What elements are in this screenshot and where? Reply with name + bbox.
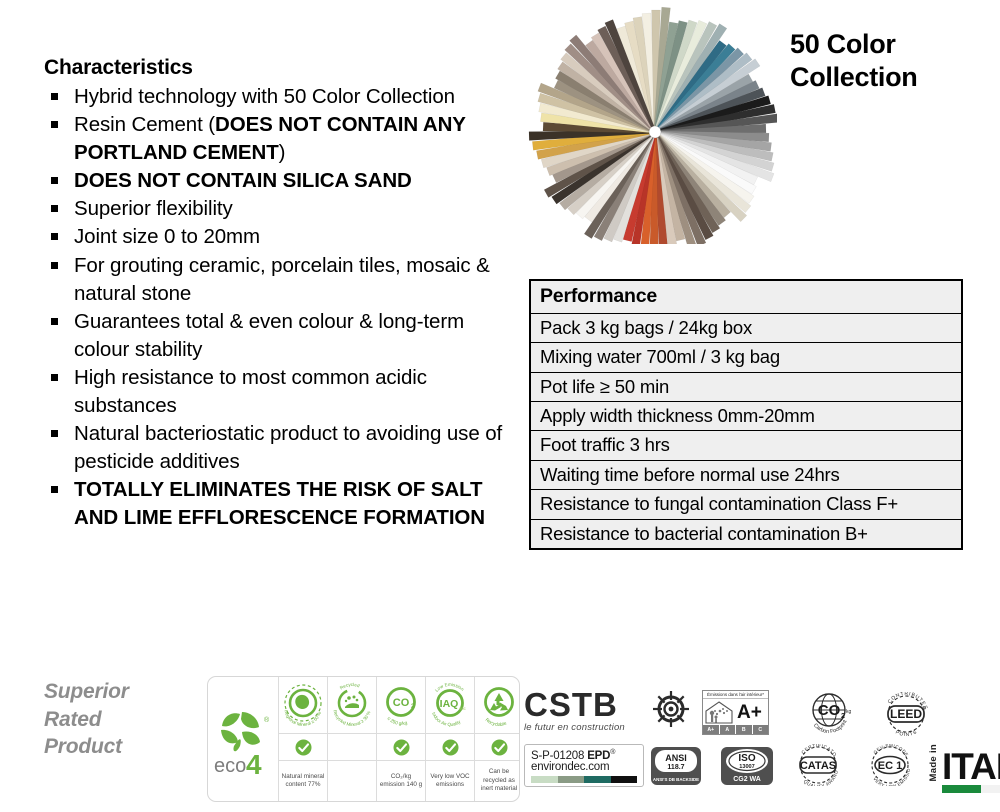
- bullet-icon: [51, 233, 58, 240]
- list-item-label: TOTALLY ELIMINATES THE RISK OF SALT AND …: [74, 478, 485, 529]
- list-item: High resistance to most common acidic su…: [44, 364, 514, 420]
- epd-bar-seg: [558, 776, 585, 783]
- eco4-column-iaq: IAQ voc Low Emission Indoor Air Quality: [426, 677, 475, 801]
- emission-grade: A+: [735, 703, 762, 722]
- ship-wheel-icon: [650, 688, 692, 730]
- italy-country: ITALY: [942, 751, 1000, 784]
- check-circle-icon: [442, 739, 459, 756]
- eco4-column-recyclable: Recyclable Can be recycled as inert mate…: [475, 677, 520, 801]
- bullet-icon: [51, 121, 58, 128]
- epd-bar-seg: [611, 776, 638, 783]
- recycled-mineral-icon: Recycled Recycled Mineral ≥ 30 %: [328, 677, 376, 734]
- leed-logo: LEED ® CONTRIBUTES POINTS: [876, 692, 936, 741]
- scale-step: C: [753, 725, 769, 734]
- catas-logo: CATAS CERTIFICATO QUALITY AWARD: [792, 744, 844, 791]
- eco4-grid: ® eco 4 Regional Miner: [208, 677, 519, 801]
- table-row: Pot life ≥ 50 min: [531, 373, 961, 402]
- voc-emission-label: Émissions dans l'air intérieur* A+ A+ A: [702, 690, 769, 735]
- eco4-columns: Regional Mineral ≥ 60 % Natural mineral …: [279, 677, 520, 801]
- emission-box: Émissions dans l'air intérieur* A+ A+ A: [702, 690, 769, 735]
- co2-icon: CO 2 ≤ 250 g/kg: [377, 681, 425, 729]
- ec1-logo: EC 1 GEV-EMICODE VERY LOW EMISSION: [864, 744, 916, 791]
- list-item-label: Superior flexibility: [74, 197, 233, 220]
- flag-green: [942, 785, 981, 793]
- table-row: Resistance to fungal contamination Class…: [531, 490, 961, 519]
- table-row: Waiting time before normal use 24hrs: [531, 461, 961, 490]
- list-item-label: Joint size 0 to 20mm: [74, 225, 260, 248]
- list-item-tail: ): [279, 141, 286, 164]
- bullet-icon: [51, 486, 58, 493]
- list-item: Superior flexibility: [44, 195, 514, 223]
- eco4-column-text: Can be recycled as inert material: [475, 761, 520, 801]
- iaq-icon: IAQ voc Low Emission Indoor Air Quality: [426, 681, 474, 729]
- svg-text:Regional Mineral ≥ 60 %: Regional Mineral ≥ 60 %: [283, 709, 322, 727]
- recycled-hand-icon: Recycled Recycled Mineral ≥ 30 %: [328, 681, 376, 729]
- epd-bar-seg: [531, 776, 558, 783]
- check-circle-icon: [295, 739, 312, 756]
- list-item: Joint size 0 to 20mm: [44, 223, 514, 251]
- marine-approval-logo: [650, 688, 692, 735]
- svg-text:®: ®: [264, 716, 270, 724]
- svg-text:EC 1: EC 1: [878, 760, 902, 772]
- svg-text:IAQ: IAQ: [440, 698, 459, 710]
- svg-text:CG2 WA: CG2 WA: [733, 776, 761, 783]
- eco4-column-text: [328, 761, 376, 801]
- epd-color-bar: [531, 776, 637, 783]
- list-item-label: DOES NOT CONTAIN SILICA SAND: [74, 169, 412, 192]
- eco4-column-co2: CO 2 ≤ 250 g/kg: [377, 677, 426, 801]
- check-icon: [377, 734, 425, 761]
- svg-text:voc: voc: [459, 706, 467, 711]
- regional-mineral-icon: Regional Mineral ≥ 60 %: [279, 677, 327, 734]
- table-row: Foot traffic 3 hrs: [531, 431, 961, 460]
- svg-text:kg: kg: [846, 709, 852, 715]
- co2-emission-icon: CO 2 ≤ 250 g/kg: [377, 677, 425, 734]
- eco4-panel: ® eco 4 Regional Miner: [207, 676, 520, 802]
- epd-bar-seg: [584, 776, 611, 783]
- svg-text:Recycled: Recycled: [339, 682, 361, 691]
- svg-text:GEV-EMICODE: GEV-EMICODE: [872, 744, 909, 757]
- italian-flag-icon: [942, 785, 1000, 793]
- iso-logo: ISO 13007 CG2 WA: [720, 746, 774, 791]
- epd-reg: ®: [610, 749, 615, 756]
- indoor-air-quality-icon: IAQ voc Low Emission Indoor Air Quality: [426, 677, 474, 734]
- cstb-tagline: le futur en construction: [524, 722, 625, 733]
- ansi-icon: ANSI 118.7 ANSI'S DB BACKSIDE: [650, 746, 702, 786]
- superior-rated-product-text: Superior Rated Product: [44, 678, 204, 761]
- superior-line2: Rated: [44, 706, 204, 734]
- empty-tick-cell: [328, 734, 376, 761]
- svg-text:ISO: ISO: [738, 753, 755, 764]
- table-row: Mixing water 700ml / 3 kg bag: [531, 343, 961, 372]
- svg-text:13007: 13007: [739, 764, 755, 770]
- list-item: Hybrid technology with 50 Color Collecti…: [44, 83, 514, 111]
- list-item: DOES NOT CONTAIN SILICA SAND: [44, 167, 514, 195]
- list-item-label: Hybrid technology with 50 Color Collecti…: [74, 85, 455, 108]
- cstb-name: CSTB: [524, 688, 625, 721]
- house-emission-icon: [703, 700, 735, 725]
- performance-table: Performance Pack 3 kg bags / 24kg box Mi…: [529, 279, 963, 550]
- color-fan-image: [527, 4, 777, 244]
- epd-logo: S-P-01208 EPD® environdec.com: [524, 744, 644, 787]
- cstb-logo: CSTB le futur en construction: [524, 688, 625, 733]
- eco4-logo: ® eco 4: [208, 677, 279, 801]
- fan-title-line2: Collection: [790, 61, 995, 94]
- svg-text:CO: CO: [393, 697, 410, 709]
- list-item-label: For grouting ceramic, porcelain tiles, m…: [74, 254, 490, 305]
- bullet-icon: [51, 430, 58, 437]
- check-icon: [279, 734, 327, 761]
- svg-text:Recyclable: Recyclable: [484, 717, 508, 728]
- eco4-logo-svg: ® eco 4: [212, 696, 274, 782]
- epd-box: S-P-01208 EPD® environdec.com: [524, 744, 644, 787]
- table-header: Performance: [531, 281, 961, 314]
- check-circle-icon: [393, 739, 410, 756]
- list-item: Natural bacteriostatic product to avoidi…: [44, 420, 514, 476]
- color-fan-svg: [527, 4, 777, 244]
- check-icon: [426, 734, 474, 761]
- carbon-footprint-logo: CO 2 kg Carbon Footprint: [802, 688, 856, 743]
- bullet-icon: [51, 318, 58, 325]
- svg-text:118.7: 118.7: [667, 764, 684, 771]
- epd-site: environdec.com: [531, 761, 637, 773]
- check-icon: [475, 734, 520, 761]
- svg-text:4: 4: [246, 749, 262, 780]
- table-row: Pack 3 kg bags / 24kg box: [531, 314, 961, 343]
- eco4-column-regional-mineral: Regional Mineral ≥ 60 % Natural mineral …: [279, 677, 328, 801]
- scale-step: A+: [703, 725, 720, 734]
- bullet-icon: [51, 374, 58, 381]
- table-row: Resistance to bacterial contamination B+: [531, 520, 961, 548]
- eco4-column-text: Natural mineral content 77%: [279, 761, 327, 801]
- table-row: Apply width thickness 0mm-20mm: [531, 402, 961, 431]
- svg-text:ANSI: ANSI: [665, 753, 687, 763]
- emission-scale: A+ A B C: [703, 725, 768, 734]
- fan-strips: [529, 7, 777, 244]
- superior-line1: Superior: [44, 678, 204, 706]
- list-item-label: Guarantees total & even colour & long-te…: [74, 310, 464, 361]
- bullet-icon: [51, 262, 58, 269]
- leed-icon: LEED ® CONTRIBUTES POINTS: [876, 692, 936, 736]
- fan-title-line1: 50 Color: [790, 28, 995, 61]
- bullet-icon: [51, 177, 58, 184]
- eco4-column-text: CO₂/kg emission 140 g: [377, 761, 425, 801]
- list-item: For grouting ceramic, porcelain tiles, m…: [44, 252, 514, 308]
- list-item-label: Resin Cement (: [74, 113, 215, 136]
- eco4-column-recycled-mineral: Recycled Recycled Mineral ≥ 30 %: [328, 677, 377, 801]
- list-item-label: High resistance to most common acidic su…: [74, 366, 427, 417]
- svg-text:≤ 250 g/kg: ≤ 250 g/kg: [386, 716, 409, 727]
- bullet-icon: [51, 205, 58, 212]
- ec1-icon: EC 1 GEV-EMICODE VERY LOW EMISSION: [864, 744, 916, 786]
- recyclable-icon: Recyclable: [475, 677, 520, 734]
- characteristics-list: Hybrid technology with 50 Color Collecti…: [44, 83, 514, 532]
- svg-text:Recycled Mineral ≥ 30 %: Recycled Mineral ≥ 30 %: [332, 709, 371, 727]
- fan-title: 50 Color Collection: [790, 28, 995, 94]
- made-in-label: Made in: [928, 744, 939, 781]
- svg-text:CO: CO: [818, 702, 841, 719]
- ansi-logo: ANSI 118.7 ANSI'S DB BACKSIDE: [650, 746, 702, 791]
- list-item: Resin Cement (DOES NOT CONTAIN ANY PORTL…: [44, 111, 514, 167]
- characteristics-title: Characteristics: [44, 56, 514, 79]
- eco4-column-text: Very low VOC emissions: [426, 761, 474, 801]
- svg-text:CATAS: CATAS: [800, 760, 836, 772]
- check-circle-icon: [491, 739, 508, 756]
- scale-step: B: [736, 725, 753, 734]
- product-datasheet-page: Characteristics Hybrid technology with 5…: [0, 0, 1000, 812]
- italy-wrap: Made in ITALY: [928, 744, 1000, 793]
- scale-step: A: [720, 725, 737, 734]
- emission-middle: A+: [703, 699, 768, 725]
- made-in-italy-logo: Made in ITALY: [928, 744, 1000, 793]
- globe-leaf-icon: Regional Mineral ≥ 60 %: [279, 681, 327, 729]
- svg-text:2: 2: [841, 713, 845, 720]
- list-item: Guarantees total & even colour & long-te…: [44, 308, 514, 364]
- emission-top-text: Émissions dans l'air intérieur*: [703, 691, 768, 699]
- svg-text:ANSI'S DB BACKSIDE: ANSI'S DB BACKSIDE: [653, 777, 699, 782]
- certification-logos: CSTB le futur en construction Émissions …: [524, 684, 994, 804]
- svg-text:CERTIFICATO: CERTIFICATO: [800, 744, 837, 758]
- svg-text:POINTS: POINTS: [894, 729, 918, 736]
- superior-line3: Product: [44, 733, 204, 761]
- catas-icon: CATAS CERTIFICATO QUALITY AWARD: [792, 744, 844, 786]
- bullet-icon: [51, 93, 58, 100]
- svg-text:LEED: LEED: [890, 707, 922, 721]
- svg-text:eco: eco: [214, 755, 246, 777]
- carbon-footprint-icon: CO 2 kg Carbon Footprint: [802, 688, 856, 738]
- list-item: TOTALLY ELIMINATES THE RISK OF SALT AND …: [44, 476, 514, 532]
- recycle-icon: Recyclable: [475, 681, 520, 729]
- italy-block: ITALY: [942, 751, 1000, 794]
- list-item-label: Natural bacteriostatic product to avoidi…: [74, 422, 502, 473]
- characteristics-section: Characteristics Hybrid technology with 5…: [44, 56, 514, 532]
- iso-icon: ISO 13007 CG2 WA: [720, 746, 774, 786]
- flag-white: [981, 785, 1000, 793]
